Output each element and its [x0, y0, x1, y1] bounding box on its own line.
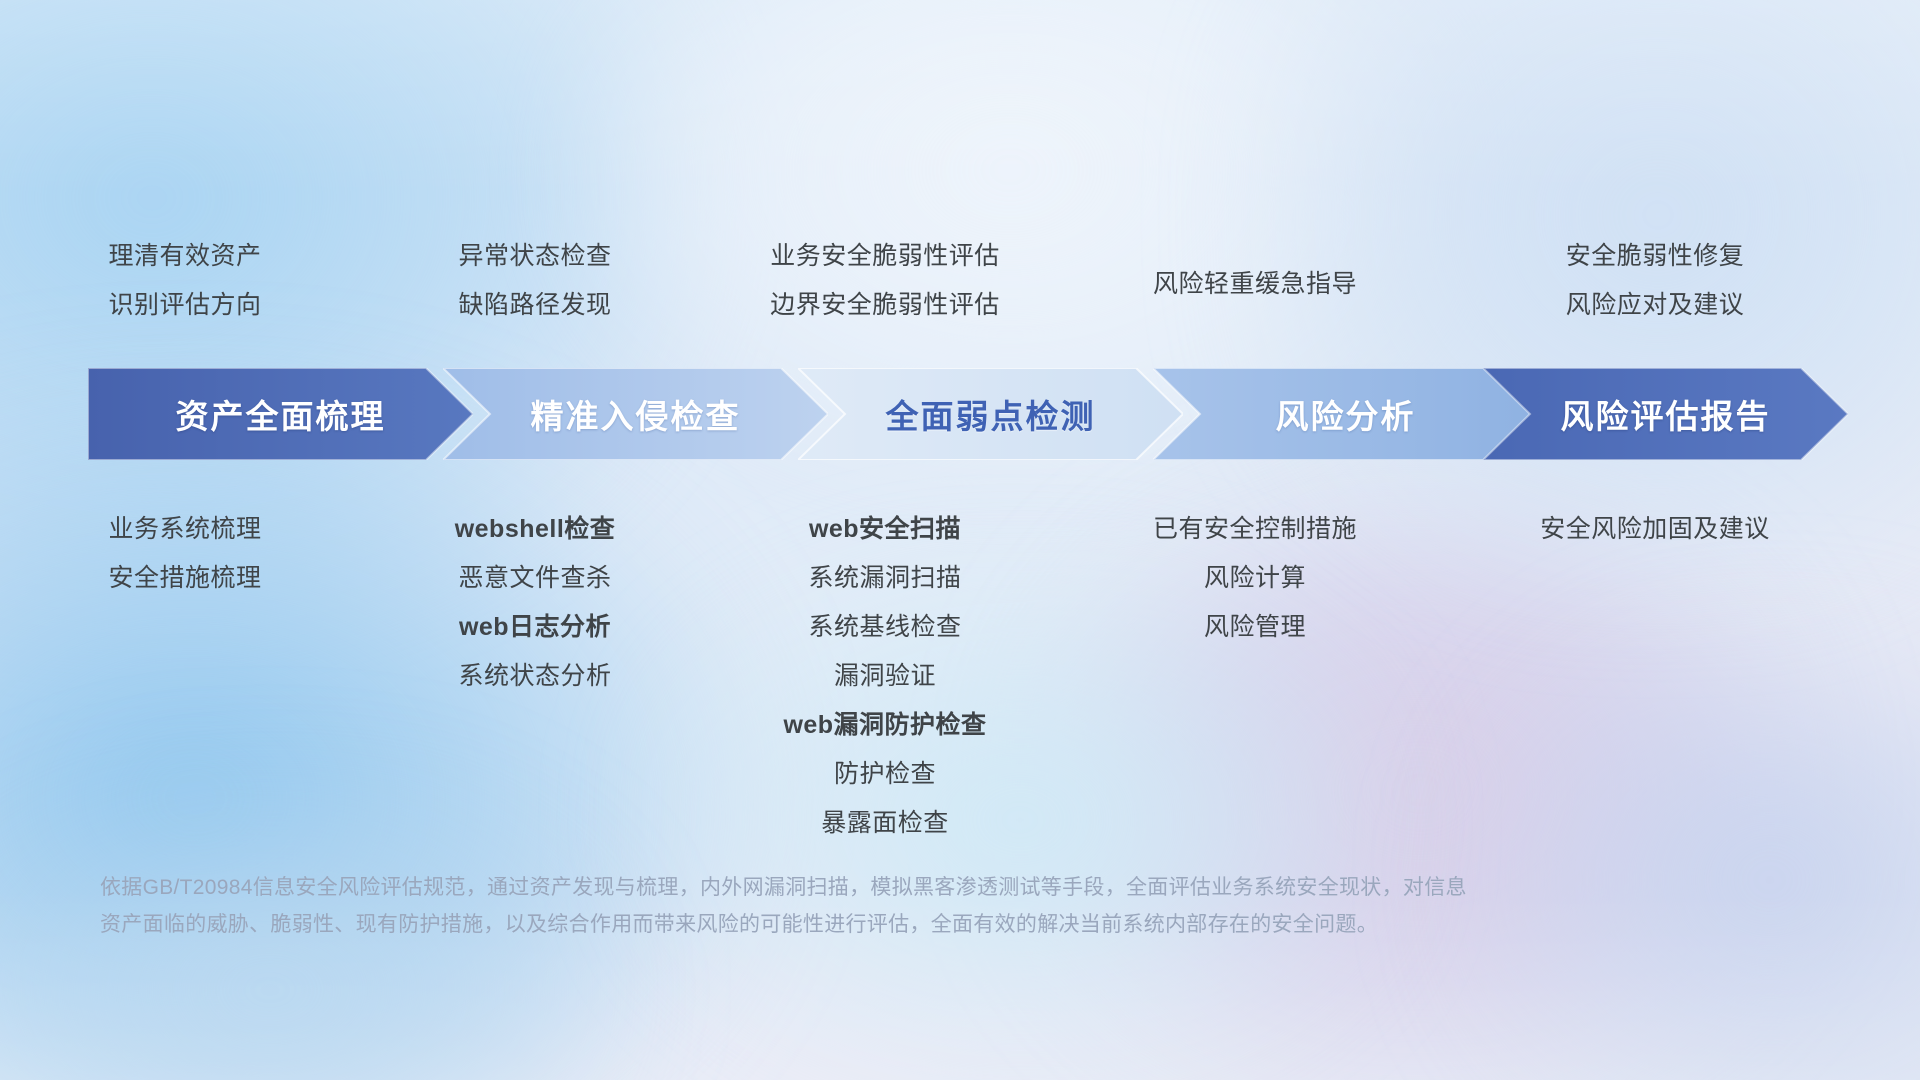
stage-arrow-label: 风险分析 [1276, 390, 1416, 438]
list-item: 系统状态分析 [458, 652, 611, 701]
stage-1-bottom-items: 业务系统梳理 安全措施梳理 [0, 505, 370, 603]
list-item: 安全风险加固及建议 [1540, 505, 1770, 554]
list-item: 边界安全脆弱性评估 [770, 281, 1000, 330]
stage-4-bottom-items: 已有安全控制措施 风险计算 风险管理 [1070, 505, 1440, 652]
list-item: web日志分析 [459, 603, 611, 652]
list-item: 识别评估方向 [108, 281, 261, 330]
list-item: 已有安全控制措施 [1153, 505, 1357, 554]
process-arrow-band: 资产全面梳理 精准入侵检查 [88, 368, 1848, 460]
stage-1-top-items: 理清有效资产 识别评估方向 [0, 232, 370, 330]
stage-arrow-label: 全面弱点检测 [886, 390, 1096, 438]
stage-5-bottom-items: 安全风险加固及建议 [1440, 505, 1870, 554]
list-item: 异常状态检查 [458, 232, 611, 281]
stage-2-bottom-items: webshell检查 恶意文件查杀 web日志分析 系统状态分析 [370, 505, 700, 701]
list-item: web安全扫描 [809, 505, 961, 554]
stage-arrow-intrusion-check[interactable]: 精准入侵检查 [443, 368, 828, 460]
list-item: 暴露面检查 [821, 799, 949, 848]
stage-arrow-risk-analysis[interactable]: 风险分析 [1153, 368, 1538, 460]
list-item: 防护检查 [834, 750, 936, 799]
list-item: 系统基线检查 [808, 603, 961, 652]
stage-5-top-items: 安全脆弱性修复 风险应对及建议 [1440, 232, 1870, 330]
stage-2-top-items: 异常状态检查 缺陷路径发现 [370, 232, 700, 330]
list-item: 风险应对及建议 [1566, 281, 1745, 330]
list-item: webshell检查 [455, 505, 616, 554]
list-item: web漏洞防护检查 [783, 701, 986, 750]
list-item: 风险计算 [1204, 554, 1306, 603]
list-item: 安全措施梳理 [108, 554, 261, 603]
stage-arrow-label: 资产全面梳理 [176, 390, 386, 438]
list-item: 恶意文件查杀 [458, 554, 611, 603]
list-item: 业务系统梳理 [108, 505, 261, 554]
list-item: 理清有效资产 [108, 232, 261, 281]
top-items-row: 理清有效资产 识别评估方向 异常状态检查 缺陷路径发现 业务安全脆弱性评估 边界… [0, 232, 1920, 330]
list-item: 安全脆弱性修复 [1566, 232, 1745, 281]
footer-line-2: 资产面临的威胁、脆弱性、现有防护措施，以及综合作用而带来风险的可能性进行评估，全… [100, 906, 1660, 943]
footer-description: 依据GB/T20984信息安全风险评估规范，通过资产发现与梳理，内外网漏洞扫描，… [100, 869, 1660, 943]
stage-arrow-assessment-report[interactable]: 风险评估报告 [1483, 368, 1848, 460]
stage-arrow-label: 精准入侵检查 [531, 390, 741, 438]
footer-line-1: 依据GB/T20984信息安全风险评估规范，通过资产发现与梳理，内外网漏洞扫描，… [100, 869, 1660, 906]
stage-3-bottom-items: web安全扫描 系统漏洞扫描 系统基线检查 漏洞验证 web漏洞防护检查 防护检… [700, 505, 1070, 848]
list-item: 漏洞验证 [834, 652, 936, 701]
stage-arrow-asset-inventory[interactable]: 资产全面梳理 [88, 368, 473, 460]
stage-4-top-items: 风险轻重缓急指导 [1070, 232, 1440, 330]
list-item: 系统漏洞扫描 [808, 554, 961, 603]
stage-arrow-label: 风险评估报告 [1561, 390, 1771, 438]
list-item: 风险轻重缓急指导 [1153, 260, 1357, 309]
process-diagram: 理清有效资产 识别评估方向 异常状态检查 缺陷路径发现 业务安全脆弱性评估 边界… [0, 0, 1920, 1080]
list-item: 风险管理 [1204, 603, 1306, 652]
list-item: 缺陷路径发现 [458, 281, 611, 330]
list-item: 业务安全脆弱性评估 [770, 232, 1000, 281]
stage-arrow-weakness-detection[interactable]: 全面弱点检测 [798, 368, 1183, 460]
stage-3-top-items: 业务安全脆弱性评估 边界安全脆弱性评估 [700, 232, 1070, 330]
bottom-items-row: 业务系统梳理 安全措施梳理 webshell检查 恶意文件查杀 web日志分析 … [0, 505, 1920, 848]
